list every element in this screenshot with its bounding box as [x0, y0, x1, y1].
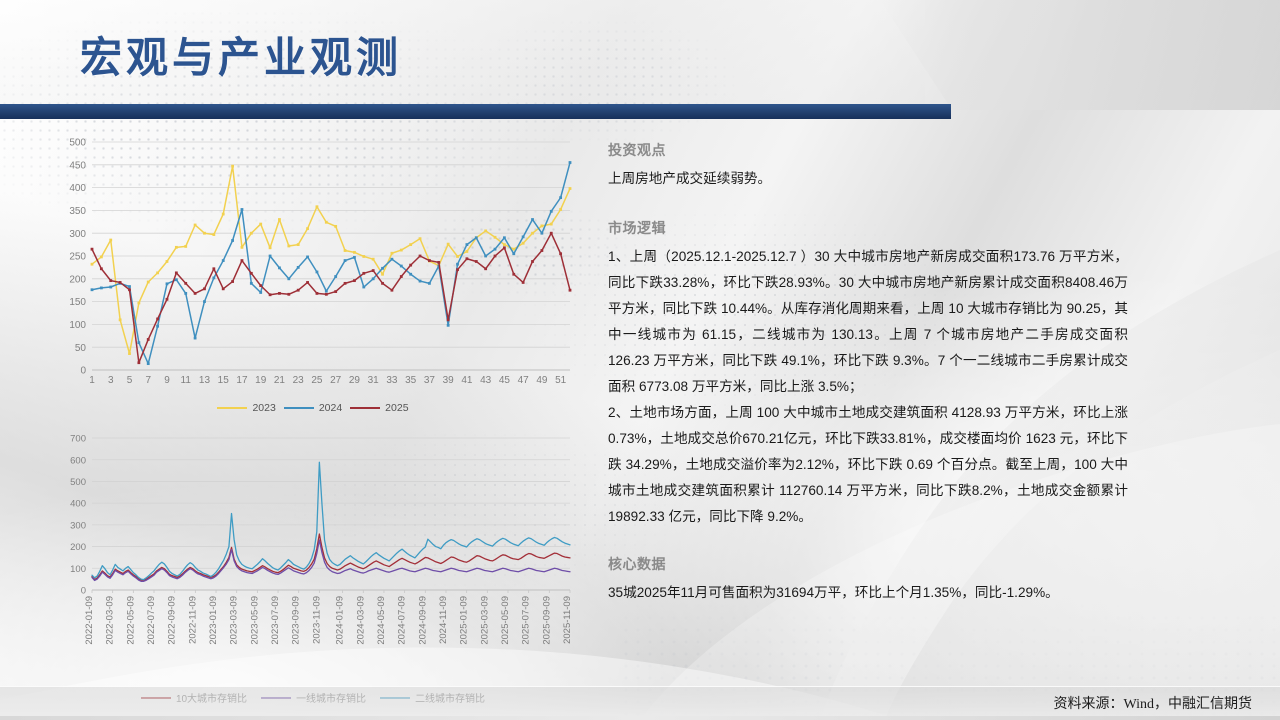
header-accent-bar-tail [905, 92, 951, 122]
chart-weekly-new-home-sales-legend: 202320242025 [48, 402, 578, 414]
svg-text:17: 17 [236, 375, 248, 386]
footer-divider [0, 686, 1280, 687]
svg-text:43: 43 [480, 375, 492, 386]
svg-text:2024-01-09: 2024-01-09 [335, 596, 346, 645]
svg-text:31: 31 [368, 375, 380, 386]
svg-text:100: 100 [69, 320, 86, 331]
legend-item-label: 2023 [252, 402, 275, 414]
svg-text:39: 39 [443, 375, 455, 386]
svg-text:2025-05-09: 2025-05-09 [500, 596, 511, 645]
svg-text:2025-09-09: 2025-09-09 [541, 596, 552, 645]
svg-text:29: 29 [349, 375, 361, 386]
svg-text:100: 100 [70, 564, 86, 575]
svg-text:45: 45 [499, 375, 511, 386]
svg-text:21: 21 [274, 375, 286, 386]
svg-text:1: 1 [89, 375, 95, 386]
svg-text:47: 47 [518, 375, 530, 386]
svg-text:0: 0 [80, 366, 86, 377]
svg-text:35: 35 [405, 375, 417, 386]
svg-text:2023-09-09: 2023-09-09 [291, 596, 302, 645]
page-title: 宏观与产业观测 [80, 36, 402, 82]
core-data-body: 35城2025年11月可售面积为31694万平，环比上个月1.35%，同比-1.… [608, 580, 1128, 606]
slide-root: 宏观与产业观测 05010015020025030035040045050013… [0, 0, 1280, 720]
svg-text:2022-03-09: 2022-03-09 [105, 596, 116, 645]
svg-text:41: 41 [461, 375, 473, 386]
svg-text:2023-03-09: 2023-03-09 [229, 596, 240, 645]
legend-item[interactable]: 2023 [217, 402, 275, 414]
source-note: 资料来源：Wind，中融汇信期货 [1053, 693, 1252, 713]
svg-text:5: 5 [127, 375, 133, 386]
svg-text:2024-09-09: 2024-09-09 [417, 596, 428, 645]
svg-text:15: 15 [218, 375, 230, 386]
svg-text:2023-01-09: 2023-01-09 [208, 596, 219, 645]
chart-weekly-new-home-sales-svg: 0501001502002503003504004505001357911131… [48, 132, 578, 400]
legend-item[interactable]: 2024 [284, 402, 342, 414]
svg-text:500: 500 [69, 138, 86, 149]
legend-swatch-line [350, 407, 380, 409]
legend-item[interactable]: 2025 [350, 402, 408, 414]
svg-text:27: 27 [330, 375, 342, 386]
legend-item-label: 2024 [319, 402, 342, 414]
svg-text:400: 400 [70, 499, 86, 510]
market-logic-paragraph-1: 1、上周（2025.12.1-2025.12.7 ）30 大中城市房地产新房成交… [608, 244, 1128, 400]
chart-inventory-sales-ratio: 01002003004005006007002022-01-092022-03-… [48, 428, 578, 705]
svg-text:2022-07-09: 2022-07-09 [146, 596, 157, 645]
svg-text:200: 200 [70, 542, 86, 553]
svg-text:200: 200 [69, 274, 86, 285]
svg-text:33: 33 [386, 375, 398, 386]
svg-text:49: 49 [536, 375, 548, 386]
core-data-block: 核心数据 35城2025年11月可售面积为31694万平，环比上个月1.35%，… [608, 554, 1128, 606]
svg-text:150: 150 [69, 297, 86, 308]
svg-text:2025-11-09: 2025-11-09 [562, 596, 573, 644]
svg-text:2023-05-09: 2023-05-09 [249, 596, 260, 645]
investment-view-heading: 投资观点 [608, 140, 1128, 160]
svg-text:2024-03-09: 2024-03-09 [355, 596, 366, 645]
svg-text:2025-01-09: 2025-01-09 [459, 596, 470, 645]
charts-column: 0501001502002503003504004505001357911131… [48, 132, 578, 692]
footer-bottom-strip [0, 716, 1280, 720]
svg-text:600: 600 [70, 455, 86, 466]
svg-text:2022-11-09: 2022-11-09 [187, 596, 198, 644]
investment-view-block: 投资观点 上周房地产成交延续弱势。 [608, 140, 1128, 192]
svg-text:2025-07-09: 2025-07-09 [521, 596, 532, 645]
svg-text:2024-07-09: 2024-07-09 [397, 596, 408, 645]
legend-swatch-line [284, 407, 314, 409]
svg-text:13: 13 [199, 375, 211, 386]
svg-text:250: 250 [69, 252, 86, 263]
svg-text:2024-05-09: 2024-05-09 [376, 596, 387, 645]
market-logic-block: 市场逻辑 1、上周（2025.12.1-2025.12.7 ）30 大中城市房地… [608, 218, 1128, 530]
commentary-column: 投资观点 上周房地产成交延续弱势。 市场逻辑 1、上周（2025.12.1-20… [608, 140, 1128, 632]
investment-view-body: 上周房地产成交延续弱势。 [608, 166, 1128, 192]
svg-text:450: 450 [69, 160, 86, 171]
legend-swatch-line [217, 407, 247, 409]
svg-text:2023-07-09: 2023-07-09 [270, 596, 281, 645]
chart-weekly-new-home-sales: 0501001502002503003504004505001357911131… [48, 132, 578, 414]
svg-text:300: 300 [69, 229, 86, 240]
svg-text:37: 37 [424, 375, 436, 386]
svg-text:3: 3 [108, 375, 114, 386]
header-accent-bar [0, 104, 922, 119]
svg-text:2024-11-09: 2024-11-09 [438, 596, 449, 644]
svg-text:2022-09-09: 2022-09-09 [167, 596, 178, 645]
legend-item-label: 2025 [385, 402, 408, 414]
svg-text:19: 19 [255, 375, 267, 386]
svg-text:7: 7 [145, 375, 151, 386]
svg-text:50: 50 [75, 343, 87, 354]
svg-text:700: 700 [70, 434, 86, 445]
svg-text:400: 400 [69, 183, 86, 194]
market-logic-heading: 市场逻辑 [608, 218, 1128, 238]
slide-footer: 资料来源：Wind，中融汇信期货 [0, 686, 1280, 720]
svg-text:2022-05-09: 2022-05-09 [125, 596, 136, 645]
svg-text:300: 300 [70, 520, 86, 531]
svg-text:2025-03-09: 2025-03-09 [479, 596, 490, 645]
svg-text:23: 23 [293, 375, 305, 386]
svg-text:11: 11 [181, 375, 192, 386]
core-data-heading: 核心数据 [608, 554, 1128, 574]
svg-text:2023-11-09: 2023-11-09 [311, 596, 322, 644]
chart-inventory-sales-ratio-svg: 01002003004005006007002022-01-092022-03-… [48, 428, 578, 668]
market-logic-paragraph-2: 2、土地市场方面，上周 100 大中城市土地成交建筑面积 4128.93 万平方… [608, 400, 1128, 530]
svg-text:350: 350 [69, 206, 86, 217]
svg-text:25: 25 [311, 375, 323, 386]
svg-text:51: 51 [555, 375, 567, 386]
svg-text:2022-01-09: 2022-01-09 [84, 596, 95, 645]
svg-text:500: 500 [70, 477, 86, 488]
slide-header: 宏观与产业观测 [0, 0, 1280, 125]
svg-text:0: 0 [81, 586, 86, 597]
svg-text:9: 9 [164, 375, 170, 386]
